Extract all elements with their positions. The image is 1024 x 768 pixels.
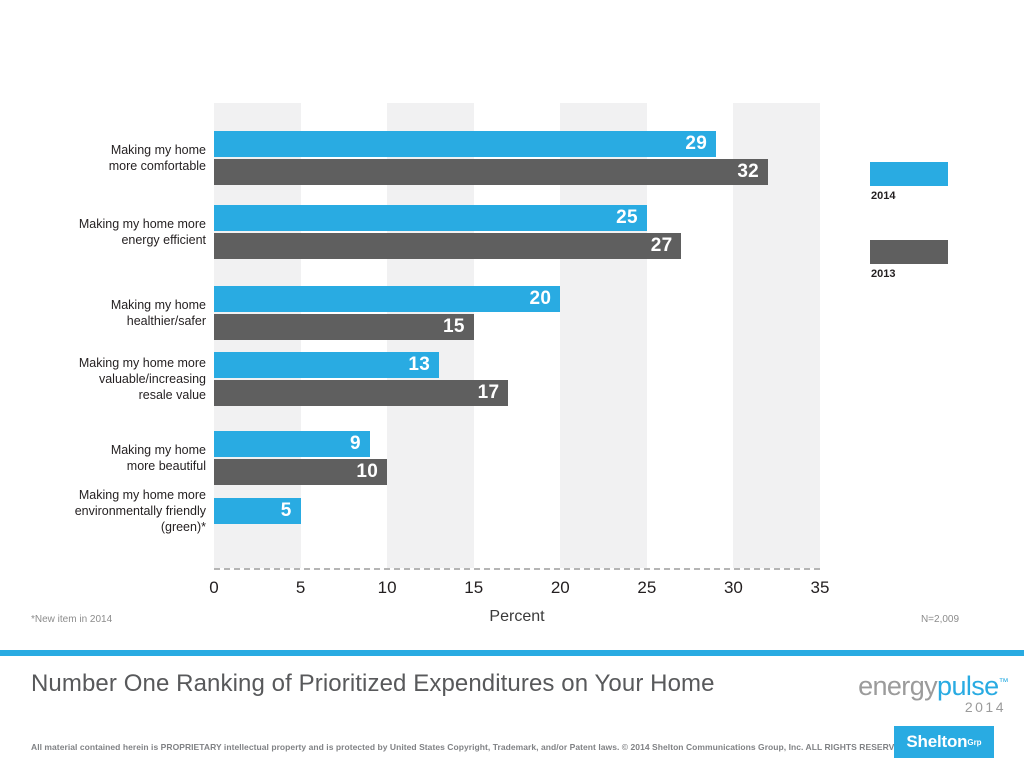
category-label-line: more comfortable [0,158,206,174]
legend-swatch-2014 [870,162,948,186]
bar-value-label: 10 [356,461,387,483]
bar-2013-3[interactable]: 17 [214,380,508,406]
category-label-4: Making my homemore beautiful [0,442,206,474]
bar-series-plot: 29322527201513179105 [214,103,820,568]
bar-value-label: 15 [443,316,474,338]
bar-2014-0[interactable]: 29 [214,131,716,157]
bar-value-label: 13 [408,354,439,376]
bar-2013-0[interactable]: 32 [214,159,768,185]
x-tick-5: 5 [296,578,305,598]
axis-baseline-dashed [214,568,820,570]
category-label-line: energy efficient [0,232,206,248]
energypulse-year: 2014 [848,699,1008,715]
energypulse-pulse-text: pulse [937,671,999,701]
legend-swatch-2013 [870,240,948,264]
category-label-line: more beautiful [0,458,206,474]
bar-value-label: 9 [350,433,370,455]
x-axis-tick-labels: 05101520253035 [214,578,820,602]
category-label-line: Making my home more [0,355,206,371]
x-tick-30: 30 [724,578,743,598]
category-label-line: healthier/safer [0,313,206,329]
category-label-line: valuable/increasing [0,371,206,387]
category-label-line: (green)* [0,519,206,535]
category-label-line: Making my home [0,297,206,313]
category-label-line: Making my home more [0,216,206,232]
slide-title: Number One Ranking of Prioritized Expend… [31,670,715,698]
x-tick-20: 20 [551,578,570,598]
energypulse-logo: energypulse™ 2014 [848,668,1008,715]
legend-item-2013[interactable]: 2013 [870,240,948,280]
bar-value-label: 29 [685,133,716,155]
trademark-icon: ™ [999,677,1008,688]
footnote-sample-size: N=2,009 [880,614,1000,625]
bar-2014-2[interactable]: 20 [214,286,560,312]
legend-item-2014[interactable]: 2014 [870,162,948,202]
x-axis-title: Percent [214,608,820,626]
category-label-line: Making my home more [0,487,206,503]
bar-2014-3[interactable]: 13 [214,352,439,378]
x-tick-10: 10 [378,578,397,598]
bar-2014-1[interactable]: 25 [214,205,647,231]
x-tick-15: 15 [464,578,483,598]
x-tick-35: 35 [811,578,830,598]
bar-value-label: 20 [530,288,561,310]
x-tick-25: 25 [637,578,656,598]
bar-2013-2[interactable]: 15 [214,314,474,340]
shelton-group-logo: SheltonGrp [894,726,994,758]
category-axis-labels: Making my homemore comfortableMaking my … [0,103,206,568]
copyright-notice: All material contained herein is PROPRIE… [31,742,909,752]
category-label-line: Making my home [0,142,206,158]
chart-region: Making my homemore comfortableMaking my … [0,0,1024,650]
shelton-logo-text: Shelton [906,732,967,752]
bar-2014-4[interactable]: 9 [214,431,370,457]
bar-value-label: 25 [616,207,647,229]
category-label-3: Making my home morevaluable/increasingre… [0,355,206,403]
category-label-5: Making my home moreenvironmentally frien… [0,487,206,535]
footnote-new-item: *New item in 2014 [31,614,112,625]
energypulse-wordmark: energypulse™ [848,668,1008,701]
category-label-line: resale value [0,387,206,403]
bar-value-label: 5 [281,500,301,522]
category-label-line: Making my home [0,442,206,458]
bar-2013-4[interactable]: 10 [214,459,387,485]
energypulse-energy-text: energy [858,671,937,701]
category-label-1: Making my home moreenergy efficient [0,216,206,248]
bar-value-label: 27 [651,235,682,257]
bar-2014-5[interactable]: 5 [214,498,301,524]
x-tick-0: 0 [209,578,218,598]
bar-value-label: 32 [737,161,768,183]
bar-value-label: 17 [478,382,509,404]
category-label-line: environmentally friendly [0,503,206,519]
category-label-0: Making my homemore comfortable [0,142,206,174]
legend-label-2014: 2014 [870,190,948,202]
slide-footer: Number One Ranking of Prioritized Expend… [0,656,1024,768]
category-label-2: Making my homehealthier/safer [0,297,206,329]
shelton-logo-suffix: Grp [967,738,981,747]
bar-2013-1[interactable]: 27 [214,233,681,259]
legend-label-2013: 2013 [870,268,948,280]
